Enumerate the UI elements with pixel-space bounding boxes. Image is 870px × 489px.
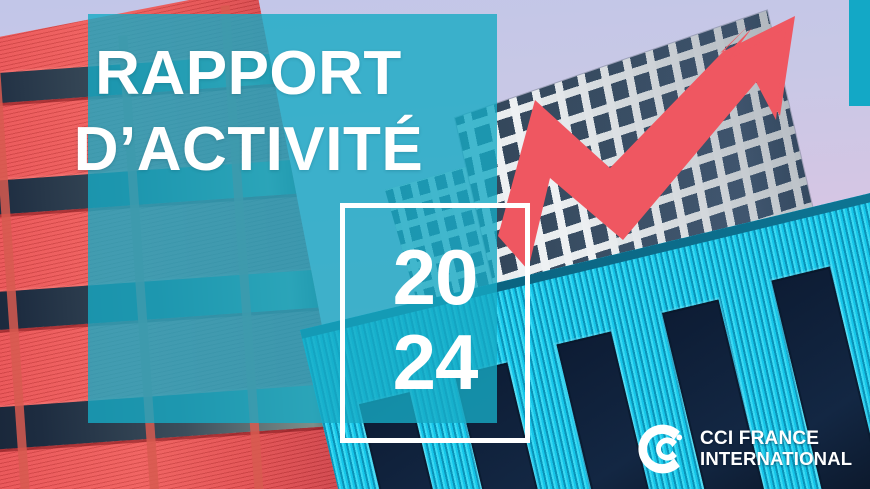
logo-line-1: CCI FRANCE (700, 429, 852, 448)
title-line-1: RAPPORT (0, 44, 497, 104)
report-cover: RAPPORT D’ACTIVITÉ 20 24 CCI FRANCE INTE… (0, 0, 870, 489)
logo-wordmark: CCI FRANCE INTERNATIONAL (700, 429, 852, 469)
page-title: RAPPORT D’ACTIVITÉ (0, 44, 497, 179)
cci-c-monogram-icon (634, 420, 692, 478)
year-outline-frame: 20 24 (340, 203, 530, 443)
logo-line-2: INTERNATIONAL (700, 450, 852, 469)
logo-lockup: CCI FRANCE INTERNATIONAL (634, 420, 852, 478)
title-line-2: D’ACTIVITÉ (0, 120, 497, 180)
year-top: 20 (345, 238, 525, 316)
accent-block-top-right (849, 0, 870, 106)
year-bottom: 24 (345, 323, 525, 401)
